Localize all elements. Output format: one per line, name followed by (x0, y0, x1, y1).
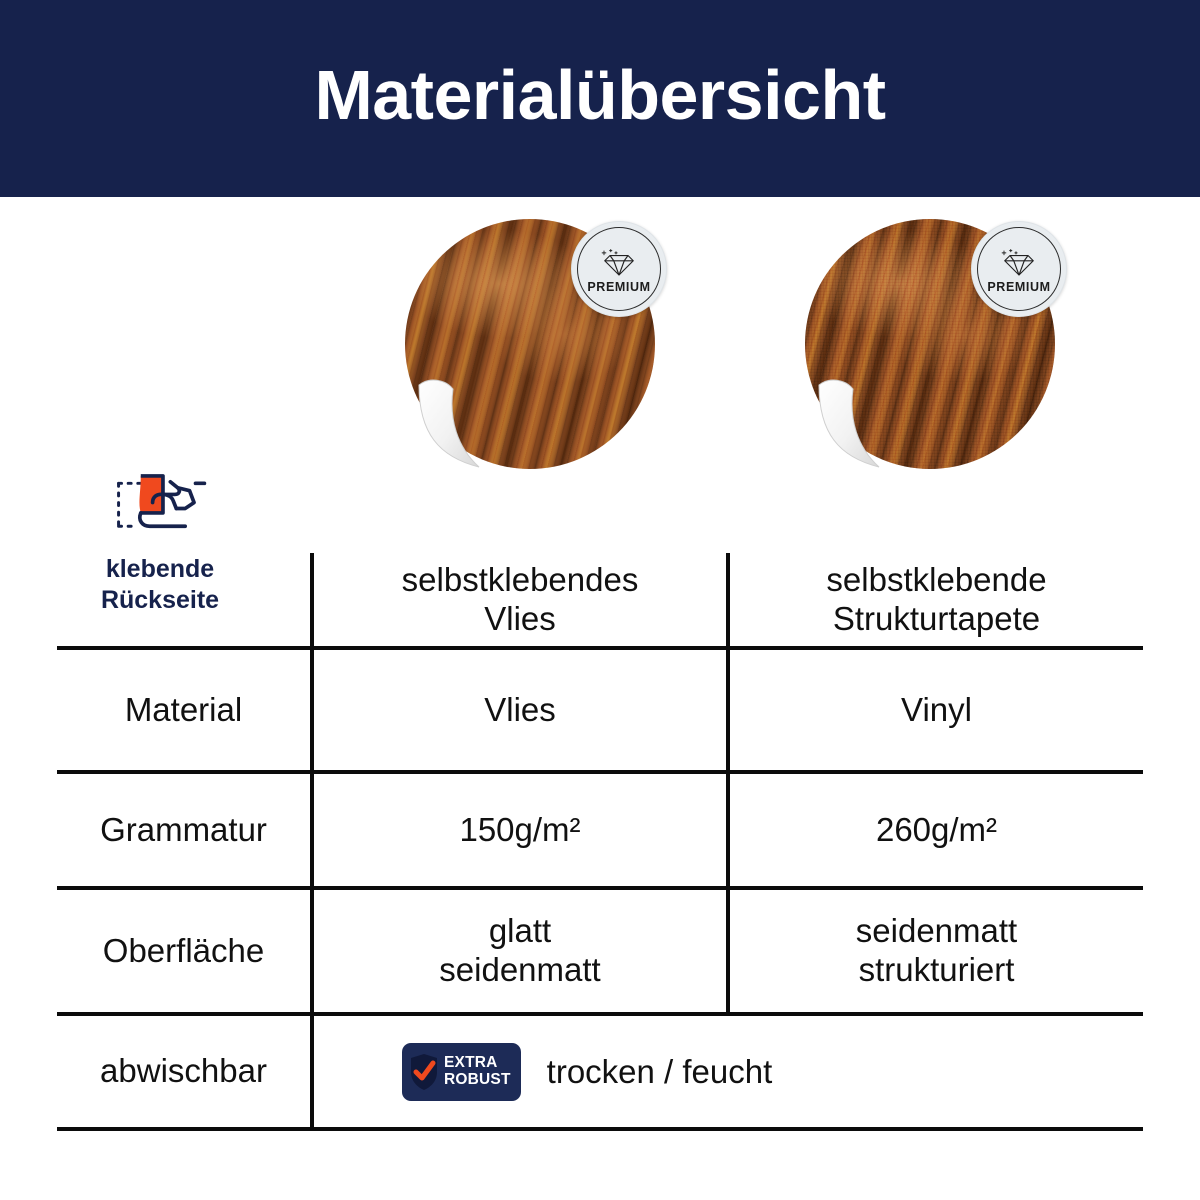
shield-check-icon (409, 1053, 439, 1091)
abwischbar-text: trocken / feucht (547, 1053, 773, 1091)
robust-line1: EXTRA (444, 1055, 511, 1071)
oberflaeche-col1-line2: seidenmatt (439, 951, 600, 990)
page-title: Materialübersicht (314, 60, 885, 130)
badge-ring (977, 227, 1061, 311)
header-col1-line1: selbstklebendes (402, 561, 639, 600)
table-row-label-oberflaeche: Oberfläche (57, 890, 310, 1012)
sample-swatches: PREMIUM (0, 205, 1200, 475)
oberflaeche-col2-line2: strukturiert (856, 951, 1017, 990)
badge-ring (577, 227, 661, 311)
material-comparison-table: selbstklebendes Vlies selbstklebende Str… (57, 553, 1143, 1131)
table-cell-grammatur-col1: 150g/m² (314, 774, 726, 886)
table-cell-oberflaeche-col2: seidenmatt strukturiert (730, 890, 1143, 1012)
page-header: Materialübersicht (0, 0, 1200, 197)
oberflaeche-col1-line1: glatt (439, 912, 600, 951)
header-col2-line2: Strukturtapete (826, 600, 1046, 639)
peeling-sticker-hand-icon (108, 470, 212, 544)
extra-robust-label: EXTRA ROBUST (444, 1055, 511, 1088)
table-row-label-material: Material (57, 650, 310, 770)
header-col2-line1: selbstklebende (826, 561, 1046, 600)
table-cell-abwischbar-value: EXTRA ROBUST trocken / feucht (402, 1016, 1143, 1127)
table-row-label-grammatur: Grammatur (57, 774, 310, 886)
robust-line2: ROBUST (444, 1072, 511, 1088)
table-header-col1: selbstklebendes Vlies (314, 553, 726, 646)
table-cell-grammatur-col2: 260g/m² (730, 774, 1143, 886)
table-divider-bottom (57, 1127, 1143, 1131)
sample-swatch-strukturtapete: PREMIUM (805, 219, 1055, 469)
sample-swatch-vlies: PREMIUM (405, 219, 655, 469)
table-header-col2: selbstklebende Strukturtapete (730, 553, 1143, 646)
premium-badge: PREMIUM (971, 221, 1067, 317)
table-cell-oberflaeche-col1: glatt seidenmatt (314, 890, 726, 1012)
table-cell-material-col1: Vlies (314, 650, 726, 770)
table-cell-material-col2: Vinyl (730, 650, 1143, 770)
oberflaeche-col2-line1: seidenmatt (856, 912, 1017, 951)
premium-badge: PREMIUM (571, 221, 667, 317)
header-col1-line2: Vlies (402, 600, 639, 639)
table-row-label-abwischbar: abwischbar (57, 1016, 310, 1127)
extra-robust-badge: EXTRA ROBUST (402, 1043, 521, 1101)
material-overview-page: Materialübersicht (0, 0, 1200, 1200)
